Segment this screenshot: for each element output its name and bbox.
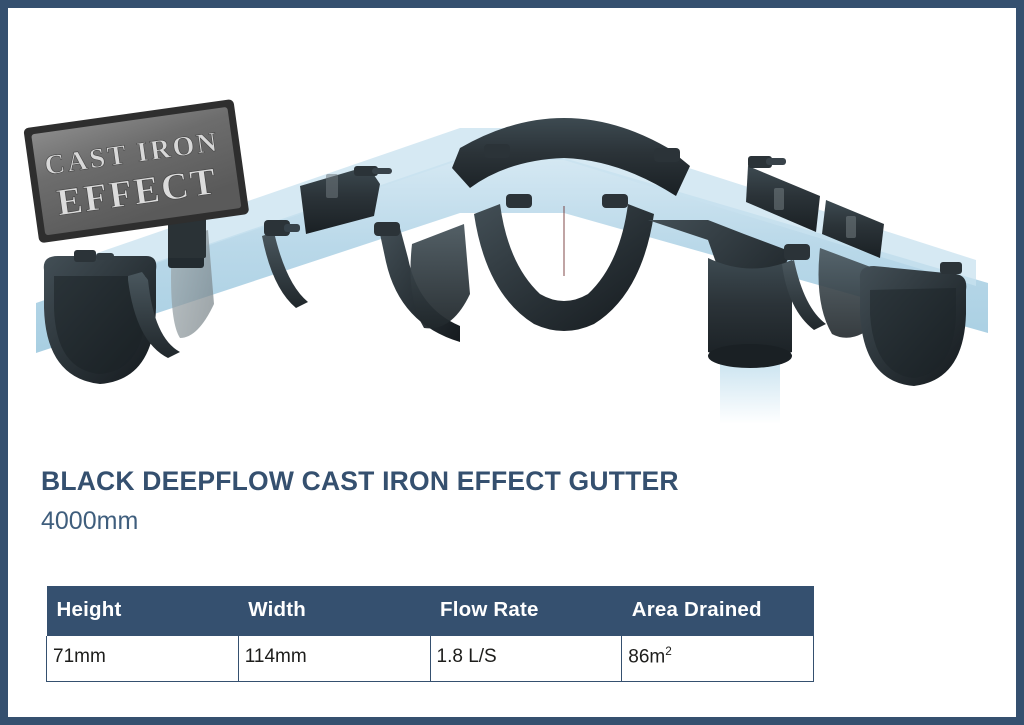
cell-width: 114mm: [238, 636, 430, 681]
gutter-length-mid: [411, 224, 471, 328]
spec-table-wrap: Height Width Flow Rate Area Drained 71mm…: [46, 586, 814, 682]
page-frame: CAST IRON EFFECT BLACK DEEPFLOW CAST IRO…: [0, 0, 1024, 725]
spec-table: Height Width Flow Rate Area Drained 71mm…: [46, 586, 814, 682]
spec-table-body: 71mm 114mm 1.8 L/S 86m2: [47, 636, 814, 681]
product-illustration: CAST IRON EFFECT: [8, 8, 1016, 448]
column-header-area-drained: Area Drained: [622, 586, 814, 636]
spec-table-head: Height Width Flow Rate Area Drained: [47, 586, 814, 636]
area-drained-value: 86m: [628, 646, 665, 667]
product-size: 4000mm: [41, 507, 921, 536]
cell-area-drained: 86m2: [622, 636, 814, 681]
downpipe-water-fall: [720, 360, 780, 424]
product-title: BLACK DEEPFLOW CAST IRON EFFECT GUTTER: [41, 466, 921, 496]
column-header-flow-rate: Flow Rate: [430, 586, 622, 636]
product-text-block: BLACK DEEPFLOW CAST IRON EFFECT GUTTER 4…: [41, 466, 921, 536]
column-header-height: Height: [47, 586, 239, 636]
cell-height: 71mm: [47, 636, 239, 681]
page-content: CAST IRON EFFECT BLACK DEEPFLOW CAST IRO…: [8, 8, 1016, 717]
gutter-assembly-graphic: CAST IRON EFFECT: [8, 8, 1016, 448]
column-header-width: Width: [238, 586, 430, 636]
table-header-row: Height Width Flow Rate Area Drained: [47, 586, 814, 636]
gutter-stop-end-right: [860, 262, 967, 386]
table-row: 71mm 114mm 1.8 L/S 86m2: [47, 636, 814, 681]
cell-flow-rate: 1.8 L/S: [430, 636, 622, 681]
area-drained-superscript: 2: [665, 645, 672, 658]
